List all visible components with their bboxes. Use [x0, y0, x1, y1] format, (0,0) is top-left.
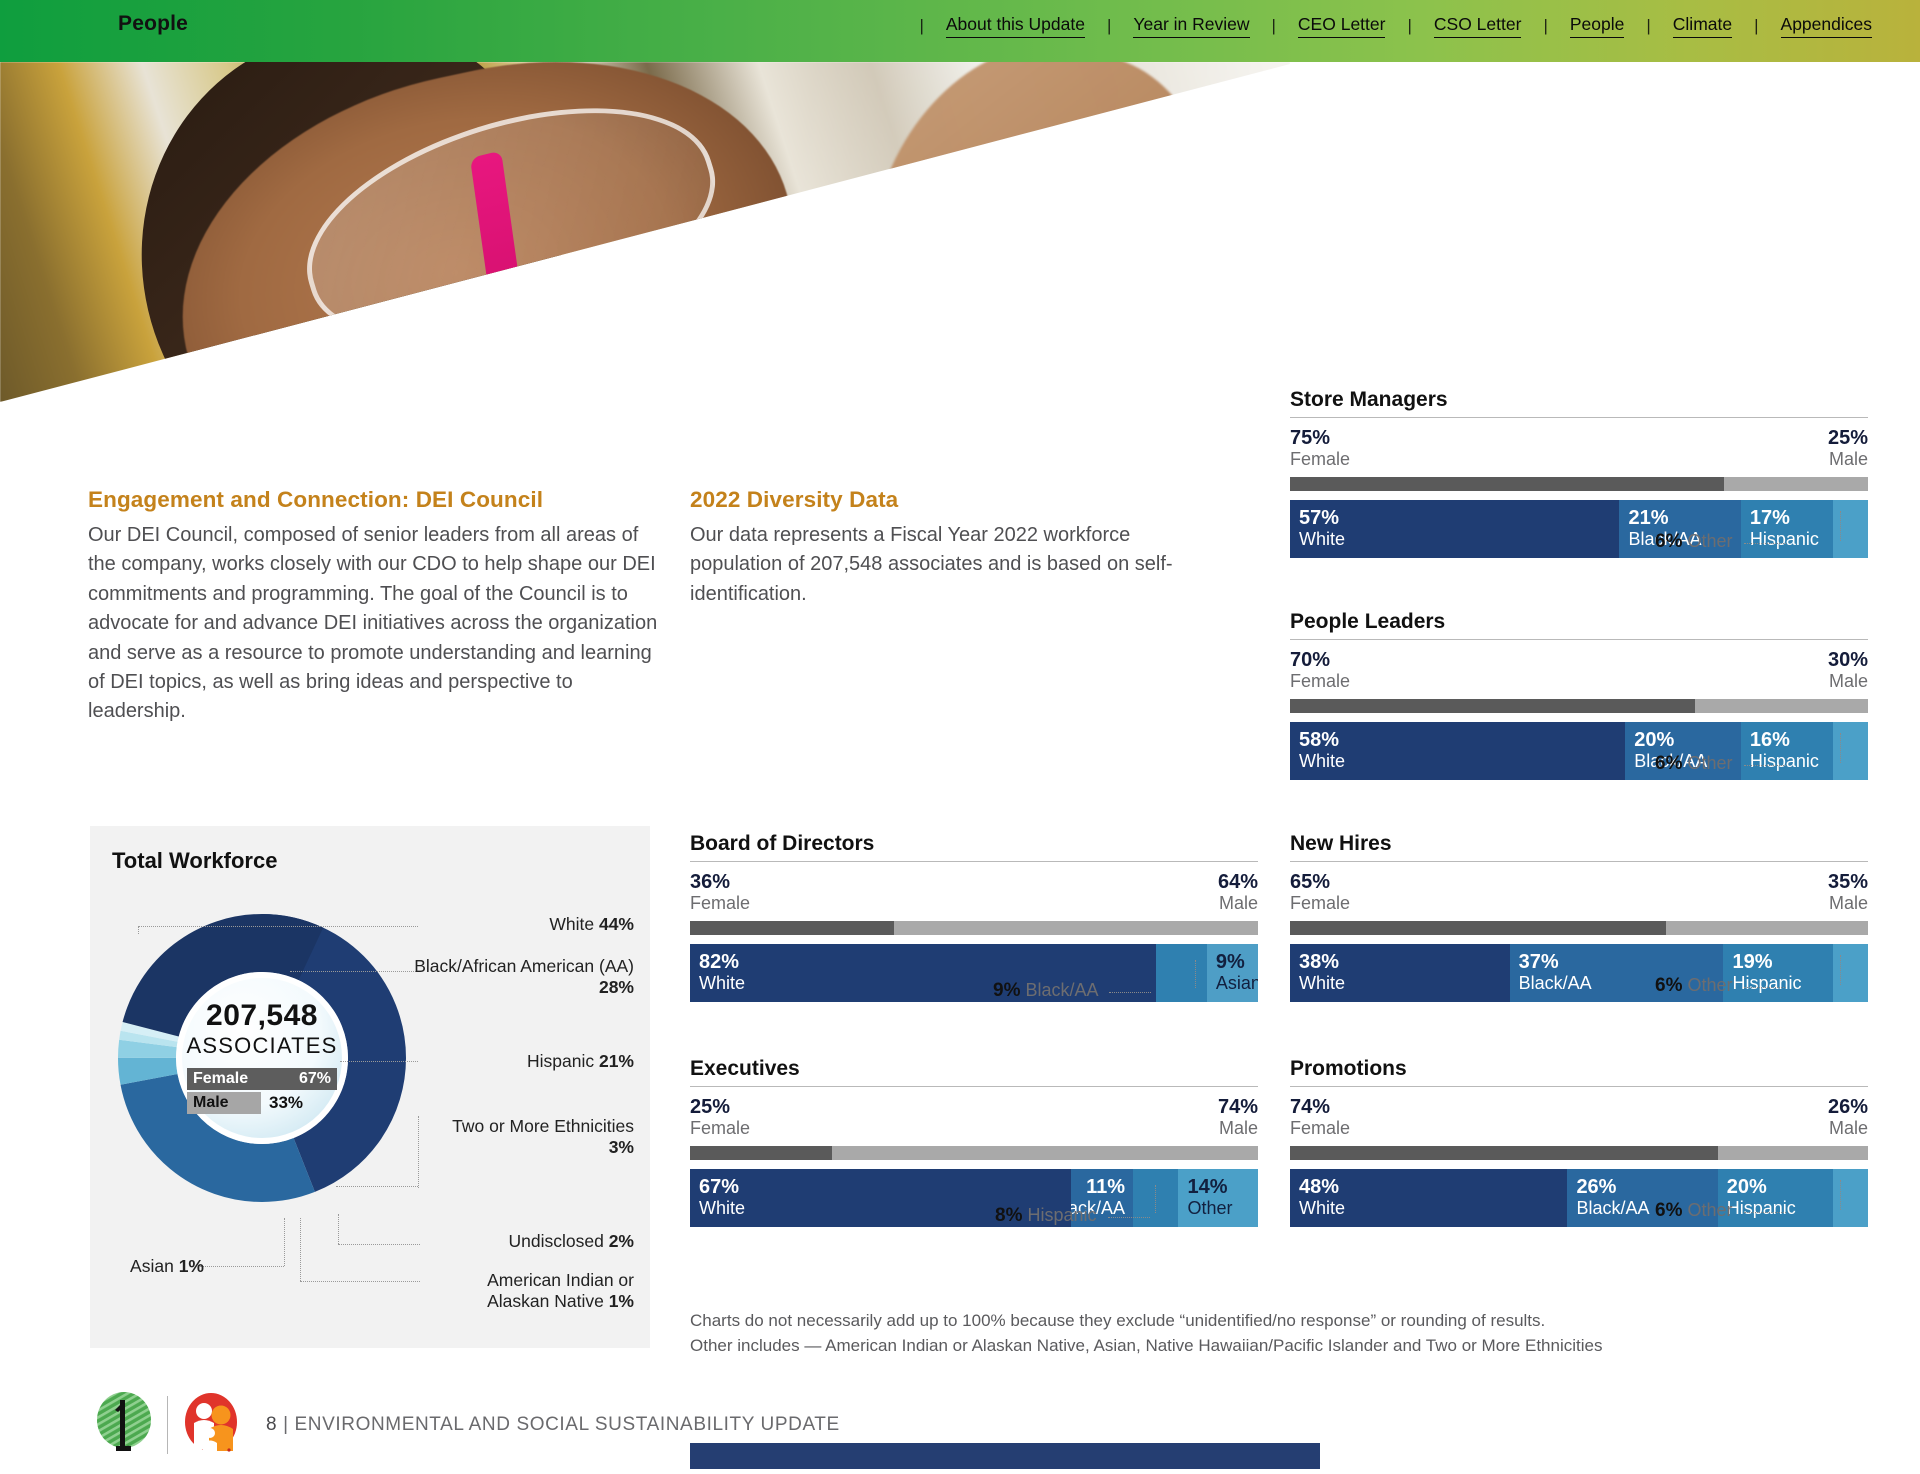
people-leaders-gender-male-seg — [1695, 699, 1868, 713]
new-hires-white-label: White — [1299, 973, 1510, 994]
board-ethnicity-bar: 82% White 9% Asian — [690, 944, 1258, 1002]
people-leaders-gender-bar — [1290, 699, 1868, 713]
promotions-other-label: Other — [1687, 1200, 1732, 1220]
chart-people-leaders: People Leaders 70% Female 30% Male 58% W… — [1290, 610, 1868, 780]
promotions-rule — [1290, 1086, 1868, 1087]
board-black-value: 9% — [993, 980, 1020, 1001]
nav-separator: | — [919, 16, 923, 36]
leader-line-two-or-more — [336, 1186, 418, 1187]
diversity-data-heading: 2022 Diversity Data — [690, 487, 1210, 513]
nav-separator: | — [1107, 16, 1111, 36]
board-female: 36% Female — [690, 872, 750, 914]
people-leaders-title: People Leaders — [1290, 610, 1868, 634]
leader-tick-two-or-more — [418, 1116, 419, 1188]
legend-american-indian-value: 1% — [609, 1291, 634, 1311]
executives-rule — [690, 1086, 1258, 1087]
legend-two-or-more-value: 3% — [609, 1137, 634, 1157]
executives-male-label: Male — [1218, 1118, 1258, 1139]
new-hires-other-label: Other — [1687, 975, 1732, 995]
dei-council-heading: Engagement and Connection: DEI Council — [88, 487, 668, 513]
nav-link-ceo-letter[interactable]: CEO Letter — [1298, 14, 1386, 38]
legend-hispanic: Hispanic 21% — [394, 1051, 634, 1072]
promotions-female-value: 74% — [1290, 1097, 1350, 1118]
donut-hole — [182, 978, 342, 1138]
board-male-label: Male — [1218, 893, 1258, 914]
legend-black-aa-name: Black/African American (AA) — [414, 956, 634, 976]
leader-line-asian — [200, 1266, 284, 1267]
legend-black-aa: Black/African American (AA) 28% — [384, 956, 634, 998]
nav-separator: | — [1543, 16, 1547, 36]
people-leaders-other-callout: 6% Other — [1655, 753, 1786, 775]
store-managers-female: 75% Female — [1290, 428, 1350, 470]
executives-callout-dots — [1108, 1217, 1150, 1218]
leader-tick-white — [138, 926, 139, 934]
footer-label: 8 | ENVIRONMENTAL AND SOCIAL SUSTAINABIL… — [266, 1414, 840, 1436]
store-managers-seg-other — [1833, 500, 1868, 558]
promotions-female-label: Female — [1290, 1118, 1350, 1139]
new-hires-black-value: 37% — [1519, 951, 1724, 973]
new-hires-seg-white: 38% White — [1290, 944, 1510, 1002]
leader-tick-undisclosed — [338, 1214, 339, 1244]
board-black-label: Black/AA — [1025, 980, 1097, 1000]
nav-separator: | — [1407, 16, 1411, 36]
nav-link-about-this-update[interactable]: About this Update — [946, 14, 1085, 38]
board-gender-female-seg — [690, 921, 894, 935]
legend-two-or-more-name: Two or More Ethnicities — [452, 1116, 634, 1136]
logo-divider — [167, 1396, 168, 1454]
hero-image-associate-portrait — [0, 62, 1290, 402]
promotions-female: 74% Female — [1290, 1097, 1350, 1139]
new-hires-male-value: 35% — [1828, 872, 1868, 893]
board-of-directors-rule — [690, 861, 1258, 862]
store-managers-female-value: 75% — [1290, 428, 1350, 449]
new-hires-female-label: Female — [1290, 893, 1350, 914]
people-leaders-gender-labels: 70% Female 30% Male — [1290, 650, 1868, 692]
promotions-gender-male-seg — [1718, 1146, 1868, 1160]
executives-seg-other: 14% Other — [1178, 1169, 1258, 1227]
store-managers-gender-labels: 75% Female 25% Male — [1290, 428, 1868, 470]
promotions-male: 26% Male — [1828, 1097, 1868, 1139]
new-hires-other-value: 6% — [1655, 975, 1682, 996]
leader-tick-american-indian — [300, 1218, 301, 1281]
store-managers-callout-dots — [1744, 543, 1786, 544]
executives-gender-female-seg — [690, 1146, 832, 1160]
executives-gender-male-seg — [832, 1146, 1258, 1160]
footer-page-number: 8 — [266, 1414, 277, 1435]
nav-link-climate[interactable]: Climate — [1673, 14, 1732, 38]
page-section-title: People — [118, 12, 188, 36]
people-leaders-female-value: 70% — [1290, 650, 1350, 671]
store-managers-male-label: Male — [1828, 449, 1868, 470]
legend-black-aa-value: 28% — [599, 977, 634, 997]
people-leaders-other-label: Other — [1687, 753, 1732, 773]
people-leaders-callout-dots — [1744, 765, 1786, 766]
nav-link-people[interactable]: People — [1570, 14, 1625, 38]
new-hires-other-callout: 6% Other — [1655, 975, 1786, 997]
board-white-value: 82% — [699, 951, 1156, 973]
store-managers-black-value: 21% — [1628, 507, 1740, 529]
promotions-seg-other — [1833, 1169, 1868, 1227]
store-managers-female-label: Female — [1290, 449, 1350, 470]
new-hires-male-label: Male — [1828, 893, 1868, 914]
promotions-gender-bar — [1290, 1146, 1868, 1160]
leader-line-white — [138, 926, 418, 927]
board-black-tick — [1195, 960, 1196, 988]
store-managers-title: Store Managers — [1290, 388, 1868, 412]
board-of-directors-title: Board of Directors — [690, 832, 1258, 856]
board-gender-labels: 36% Female 64% Male — [690, 872, 1258, 914]
store-managers-gender-female-seg — [1290, 477, 1724, 491]
executives-hispanic-callout: 8% Hispanic — [995, 1205, 1150, 1227]
people-leaders-gender-female-seg — [1290, 699, 1695, 713]
executives-other-value: 14% — [1187, 1176, 1258, 1198]
store-managers-other-tick — [1840, 511, 1841, 541]
board-seg-black — [1156, 944, 1207, 1002]
legend-hispanic-value: 21% — [599, 1051, 634, 1071]
promotions-callout-dots — [1744, 1212, 1786, 1213]
store-managers-other-label: Other — [1687, 531, 1732, 551]
store-managers-rule — [1290, 417, 1868, 418]
bottom-accent-bar — [690, 1443, 1320, 1469]
new-hires-male: 35% Male — [1828, 872, 1868, 914]
executives-male-value: 74% — [1218, 1097, 1258, 1118]
executives-male: 74% Male — [1218, 1097, 1258, 1139]
executives-other-label: Other — [1187, 1198, 1258, 1219]
executives-female-label: Female — [690, 1118, 750, 1139]
total-workforce-title: Total Workforce — [112, 848, 277, 874]
legend-undisclosed-name: Undisclosed — [509, 1231, 604, 1251]
chart-store-managers: Store Managers 75% Female 25% Male 57% W… — [1290, 388, 1868, 558]
board-female-value: 36% — [690, 872, 750, 893]
people-leaders-male-value: 30% — [1828, 650, 1868, 671]
total-workforce-panel: Total Workforce — [90, 826, 650, 1348]
new-hires-callout-dots — [1744, 987, 1786, 988]
new-hires-seg-other — [1833, 944, 1868, 1002]
people-leaders-hispanic-value: 16% — [1750, 729, 1833, 751]
legend-hispanic-name: Hispanic — [527, 1051, 594, 1071]
nav-separator: | — [1646, 16, 1650, 36]
store-managers-male-value: 25% — [1828, 428, 1868, 449]
executives-female-value: 25% — [690, 1097, 750, 1118]
legend-asian-name: Asian — [130, 1256, 174, 1276]
people-leaders-female-label: Female — [1290, 671, 1350, 692]
promotions-black-value: 26% — [1576, 1176, 1717, 1198]
chart-board-of-directors: Board of Directors 36% Female 64% Male 8… — [690, 832, 1258, 1002]
promotions-male-label: Male — [1828, 1118, 1868, 1139]
diversity-data-body: Our data represents a Fiscal Year 2022 w… — [690, 521, 1210, 609]
hero-smile — [425, 333, 625, 402]
executives-hispanic-label: Hispanic — [1027, 1205, 1096, 1225]
board-female-label: Female — [690, 893, 750, 914]
promotions-seg-white: 48% White — [1290, 1169, 1567, 1227]
store-managers-gender-bar — [1290, 477, 1868, 491]
executives-hispanic-tick — [1155, 1185, 1156, 1213]
chart-executives: Executives 25% Female 74% Male 67% White… — [690, 1057, 1258, 1227]
dei-council-column: Engagement and Connection: DEI Council O… — [88, 487, 668, 727]
people-leaders-female: 70% Female — [1290, 650, 1350, 692]
nav-links: | About this Update | Year in Review | C… — [919, 14, 1894, 38]
board-black-callout: 9% Black/AA — [993, 980, 1151, 1002]
legend-undisclosed: Undisclosed 2% — [414, 1231, 634, 1252]
board-male: 64% Male — [1218, 872, 1258, 914]
store-managers-white-value: 57% — [1299, 507, 1619, 529]
nav-link-year-in-review[interactable]: Year in Review — [1133, 14, 1249, 38]
chart-footnotes: Charts do not necessarily add up to 100%… — [690, 1308, 1810, 1358]
new-hires-other-tick — [1840, 955, 1841, 985]
donut-svg — [112, 908, 412, 1208]
people-leaders-white-label: White — [1299, 751, 1625, 772]
board-callout-dots — [1109, 992, 1151, 993]
nav-link-cso-letter[interactable]: CSO Letter — [1434, 14, 1522, 38]
board-male-value: 64% — [1218, 872, 1258, 893]
executives-white-value: 67% — [699, 1176, 739, 1198]
dei-council-body: Our DEI Council, composed of senior lead… — [88, 521, 668, 727]
legend-white-value: 44% — [599, 914, 634, 934]
total-workforce-donut: 207,548 ASSOCIATES Female 67% Male 33% — [112, 908, 412, 1208]
promotions-other-value: 6% — [1655, 1200, 1682, 1221]
footnote-line-1: Charts do not necessarily add up to 100%… — [690, 1308, 1810, 1333]
board-seg-asian: 9% Asian — [1207, 944, 1258, 1002]
executives-hispanic-value: 8% — [995, 1205, 1022, 1226]
legend-white: White 44% — [394, 914, 634, 935]
executives-ethnicity-bar: 67% White 11% Black/AA 14% Other — [690, 1169, 1258, 1227]
legend-asian: Asian 1% — [104, 1256, 204, 1277]
store-managers-male: 25% Male — [1828, 428, 1868, 470]
board-asian-value: 9% — [1216, 951, 1258, 973]
legend-undisclosed-value: 2% — [609, 1231, 634, 1251]
new-hires-gender-bar — [1290, 921, 1868, 935]
promotions-white-label: White — [1299, 1198, 1567, 1219]
new-hires-female-value: 65% — [1290, 872, 1350, 893]
store-managers-other-callout: 6% Other — [1655, 531, 1786, 553]
new-hires-white-value: 38% — [1299, 951, 1510, 973]
store-managers-white-label: White — [1299, 529, 1619, 550]
new-hires-gender-female-seg — [1290, 921, 1666, 935]
diversity-data-column: 2022 Diversity Data Our data represents … — [690, 487, 1210, 609]
store-managers-seg-white: 57% White — [1290, 500, 1619, 558]
nav-separator: | — [1754, 16, 1758, 36]
promotions-hispanic-value: 20% — [1727, 1176, 1834, 1198]
executives-white-label: White — [699, 1198, 745, 1219]
leader-tick-asian — [284, 1218, 285, 1266]
footer-title: ENVIRONMENTAL AND SOCIAL SUSTAINABILITY … — [295, 1414, 840, 1435]
legend-asian-value: 1% — [179, 1256, 204, 1276]
people-leaders-male: 30% Male — [1828, 650, 1868, 692]
executives-female: 25% Female — [690, 1097, 750, 1139]
legend-two-or-more: Two or More Ethnicities 3% — [434, 1116, 634, 1158]
nav-separator: | — [1272, 16, 1276, 36]
top-navigation-bar: People | About this Update | Year in Rev… — [0, 0, 1920, 62]
new-hires-gender-labels: 65% Female 35% Male — [1290, 872, 1868, 914]
promotions-white-value: 48% — [1299, 1176, 1567, 1198]
family-dollar-logo-icon — [182, 1390, 240, 1460]
promotions-male-value: 26% — [1828, 1097, 1868, 1118]
executives-gender-labels: 25% Female 74% Male — [690, 1097, 1258, 1139]
people-leaders-seg-other — [1833, 722, 1868, 780]
footnote-line-2: Other includes — American Indian or Alas… — [690, 1333, 1810, 1358]
promotions-gender-female-seg — [1290, 1146, 1718, 1160]
legend-american-indian: American Indian or Alaskan Native 1% — [424, 1270, 634, 1312]
legend-white-name: White — [549, 914, 594, 934]
people-leaders-other-value: 6% — [1655, 753, 1682, 774]
new-hires-female: 65% Female — [1290, 872, 1350, 914]
new-hires-title: New Hires — [1290, 832, 1868, 856]
leader-line-undisclosed — [338, 1244, 420, 1245]
people-leaders-white-value: 58% — [1299, 729, 1625, 751]
executives-gender-bar — [690, 1146, 1258, 1160]
board-asian-label: Asian — [1216, 973, 1258, 994]
store-managers-hispanic-value: 17% — [1750, 507, 1833, 529]
people-leaders-seg-white: 58% White — [1290, 722, 1625, 780]
promotions-gender-labels: 74% Female 26% Male — [1290, 1097, 1868, 1139]
people-leaders-other-tick — [1840, 733, 1841, 763]
new-hires-hispanic-value: 19% — [1732, 951, 1833, 973]
people-leaders-male-label: Male — [1828, 671, 1868, 692]
new-hires-rule — [1290, 861, 1868, 862]
new-hires-gender-male-seg — [1666, 921, 1868, 935]
promotions-other-tick — [1840, 1180, 1841, 1210]
chart-promotions: Promotions 74% Female 26% Male 48% White… — [1290, 1057, 1868, 1227]
executives-black-value: 11% — [1086, 1176, 1125, 1198]
people-leaders-black-value: 20% — [1634, 729, 1741, 751]
dollar-general-tree-logo-icon — [95, 1390, 153, 1460]
store-managers-other-value: 6% — [1655, 531, 1682, 552]
people-leaders-rule — [1290, 639, 1868, 640]
board-gender-male-seg — [894, 921, 1258, 935]
leader-line-american-indian — [300, 1281, 420, 1282]
executives-title: Executives — [690, 1057, 1258, 1081]
chart-new-hires: New Hires 65% Female 35% Male 38% White … — [1290, 832, 1868, 1002]
promotions-other-callout: 6% Other — [1655, 1200, 1786, 1222]
board-gender-bar — [690, 921, 1258, 935]
nav-link-appendices[interactable]: Appendices — [1781, 14, 1872, 38]
promotions-title: Promotions — [1290, 1057, 1868, 1081]
store-managers-gender-male-seg — [1724, 477, 1869, 491]
footer-separator: | — [283, 1414, 289, 1435]
